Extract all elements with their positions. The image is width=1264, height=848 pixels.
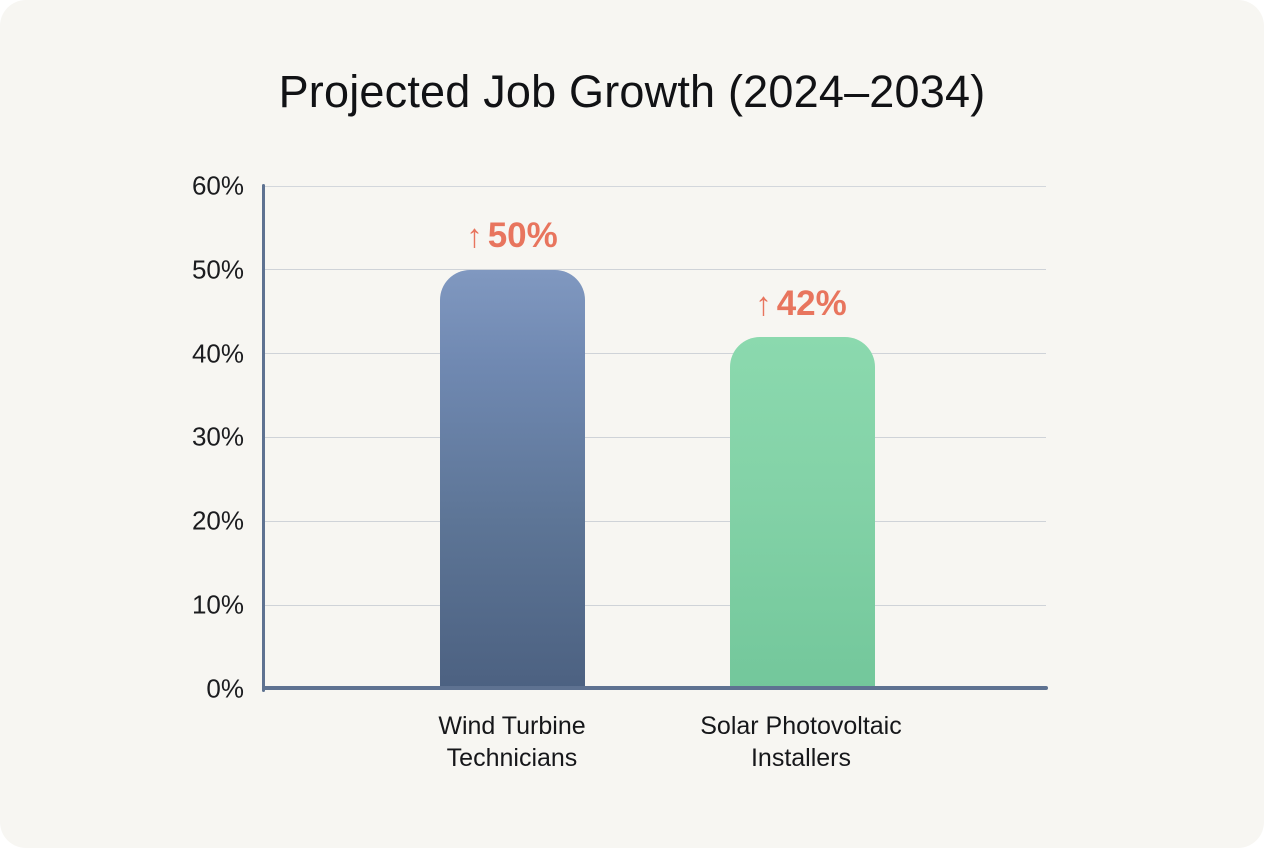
up-arrow-icon: ↑ [755, 285, 772, 322]
y-tick-label-40: 40% [124, 339, 244, 370]
bar-wind-turbine-technicians[interactable] [440, 270, 585, 689]
x-axis-line [262, 686, 1048, 690]
category-label-wind-turbine-technicians: Wind Turbine Technicians [362, 710, 662, 774]
y-tick-label-0: 0% [124, 674, 244, 705]
category-label-line1: Wind Turbine [438, 712, 585, 740]
gridline-20 [264, 521, 1046, 522]
bar-value-wind-turbine-technicians: ↑50% [466, 216, 558, 256]
y-tick-label-60: 60% [124, 171, 244, 202]
gridline-10 [264, 605, 1046, 606]
gridline-50 [264, 269, 1046, 270]
gridline-40 [264, 353, 1046, 354]
bar-value-text: 50% [488, 216, 558, 255]
chart-title: Projected Job Growth (2024–2034) [0, 66, 1264, 118]
plot-area [264, 186, 1046, 689]
y-axis-line [262, 184, 265, 692]
gridline-60 [264, 186, 1046, 187]
category-label-line1: Solar Photovoltaic [700, 712, 902, 740]
gridline-30 [264, 437, 1046, 438]
y-tick-label-20: 20% [124, 506, 244, 537]
bar-value-solar-photovoltaic-installers: ↑42% [755, 284, 847, 324]
category-label-line2: Technicians [362, 742, 662, 774]
chart-card: Projected Job Growth (2024–2034) 60% 50%… [0, 0, 1264, 848]
y-tick-label-10: 10% [124, 590, 244, 621]
category-label-solar-photovoltaic-installers: Solar Photovoltaic Installers [651, 710, 951, 774]
bar-solar-photovoltaic-installers[interactable] [730, 337, 875, 689]
bar-value-text: 42% [777, 284, 847, 323]
category-label-line2: Installers [651, 742, 951, 774]
y-tick-label-30: 30% [124, 422, 244, 453]
y-tick-label-50: 50% [124, 255, 244, 286]
up-arrow-icon: ↑ [466, 217, 483, 254]
